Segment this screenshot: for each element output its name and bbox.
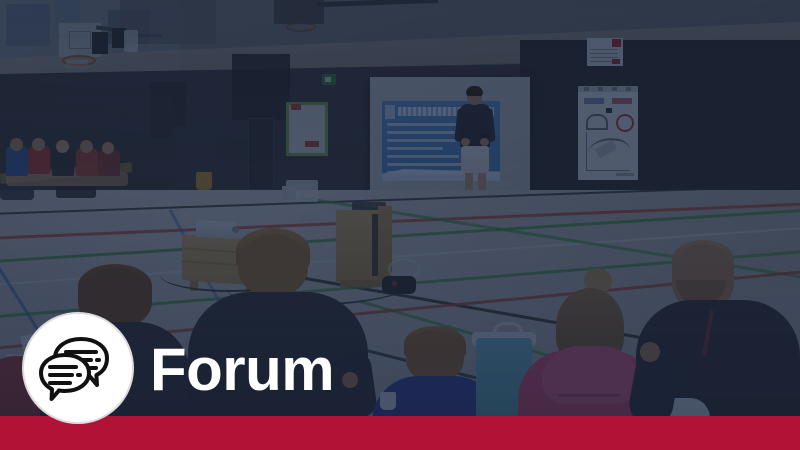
bottom-accent-bar (0, 416, 800, 450)
forum-banner: Forum (0, 0, 800, 450)
forum-logo-badge[interactable] (22, 312, 134, 424)
speech-bubbles-icon (39, 335, 117, 401)
page-title: Forum (150, 340, 334, 400)
